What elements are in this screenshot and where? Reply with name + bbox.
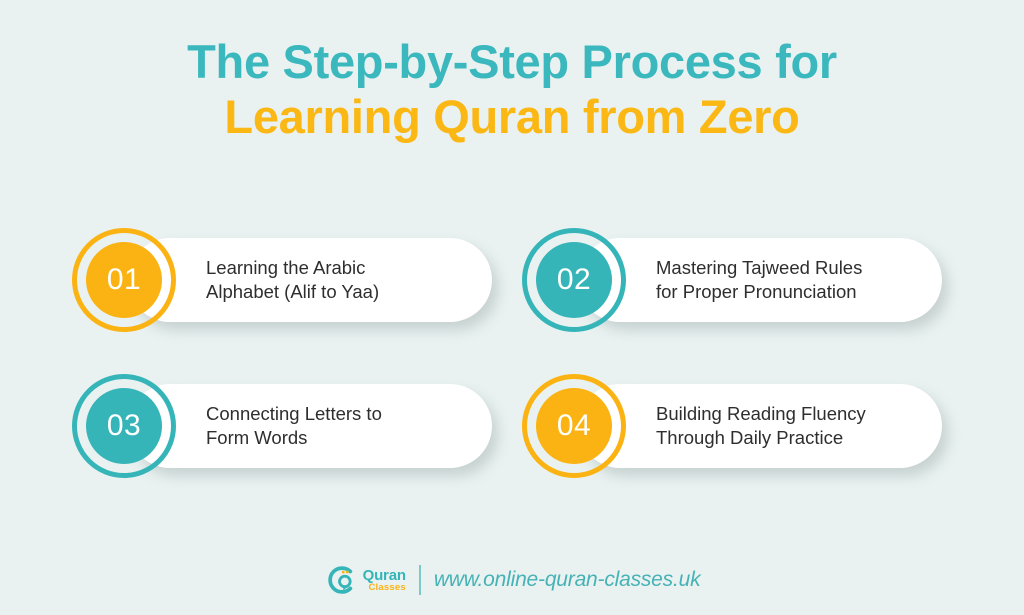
step-number-03: 03 xyxy=(107,411,141,441)
step-label-02: Mastering Tajweed Rules for Proper Pronu… xyxy=(656,256,936,304)
step-label-03: Connecting Letters to Form Words xyxy=(206,402,486,450)
footer-divider xyxy=(419,565,421,595)
step-number-badge-02: 02 xyxy=(522,228,626,332)
steps-list: Learning the Arabic Alphabet (Alif to Ya… xyxy=(72,228,952,498)
step-item-02[interactable]: Mastering Tajweed Rules for Proper Pronu… xyxy=(522,228,942,332)
page-title-line-1: The Step-by-Step Process for xyxy=(0,38,1024,85)
step-label-04: Building Reading Fluency Through Daily P… xyxy=(656,402,936,450)
step-label-01: Learning the Arabic Alphabet (Alif to Ya… xyxy=(206,256,486,304)
step-number-badge-04: 04 xyxy=(522,374,626,478)
step-card-02[interactable]: Mastering Tajweed Rules for Proper Pronu… xyxy=(578,238,942,322)
step-card-04[interactable]: Building Reading Fluency Through Daily P… xyxy=(578,384,942,468)
step-number-disc-04: 04 xyxy=(536,388,612,464)
step-card-03[interactable]: Connecting Letters to Form Words xyxy=(128,384,492,468)
step-card-01[interactable]: Learning the Arabic Alphabet (Alif to Ya… xyxy=(128,238,492,322)
quran-classes-logo-icon xyxy=(324,563,358,597)
step-item-04[interactable]: Building Reading Fluency Through Daily P… xyxy=(522,374,942,478)
page-title: The Step-by-Step Process for Learning Qu… xyxy=(0,38,1024,140)
footer: Quran Classes www.online-quran-classes.u… xyxy=(0,563,1024,597)
brand-name-secondary: Classes xyxy=(363,583,406,593)
step-number-disc-02: 02 xyxy=(536,242,612,318)
step-item-03[interactable]: Connecting Letters to Form Words 03 xyxy=(72,374,492,478)
page-title-line-2: Learning Quran from Zero xyxy=(0,93,1024,140)
brand-name-primary: Quran xyxy=(363,568,406,583)
step-number-badge-03: 03 xyxy=(72,374,176,478)
website-url[interactable]: www.online-quran-classes.uk xyxy=(434,568,701,592)
step-item-01[interactable]: Learning the Arabic Alphabet (Alif to Ya… xyxy=(72,228,492,332)
step-number-04: 04 xyxy=(557,411,591,441)
brand-logo-wordmark: Quran Classes xyxy=(363,568,406,593)
step-number-01: 01 xyxy=(107,265,141,295)
step-number-disc-03: 03 xyxy=(86,388,162,464)
step-number-badge-01: 01 xyxy=(72,228,176,332)
step-number-02: 02 xyxy=(557,265,591,295)
brand-logo[interactable]: Quran Classes xyxy=(324,563,406,597)
step-number-disc-01: 01 xyxy=(86,242,162,318)
